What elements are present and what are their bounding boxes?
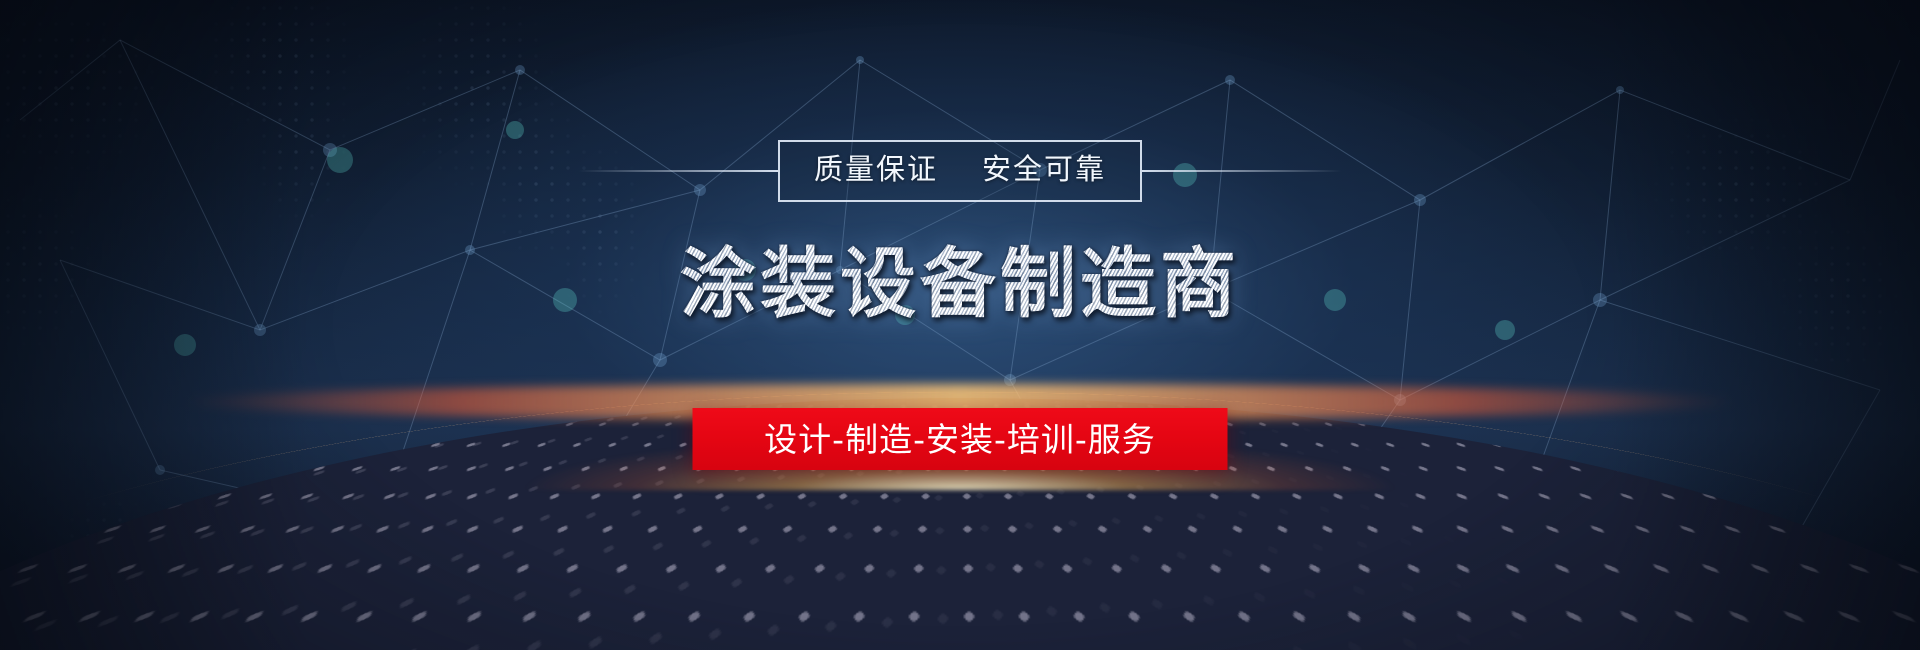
vignette-overlay <box>0 0 1920 650</box>
hero-banner: 质量保证 安全可靠 涂装设备制造商 设计-制造-安装-培训-服务 <box>0 0 1920 650</box>
